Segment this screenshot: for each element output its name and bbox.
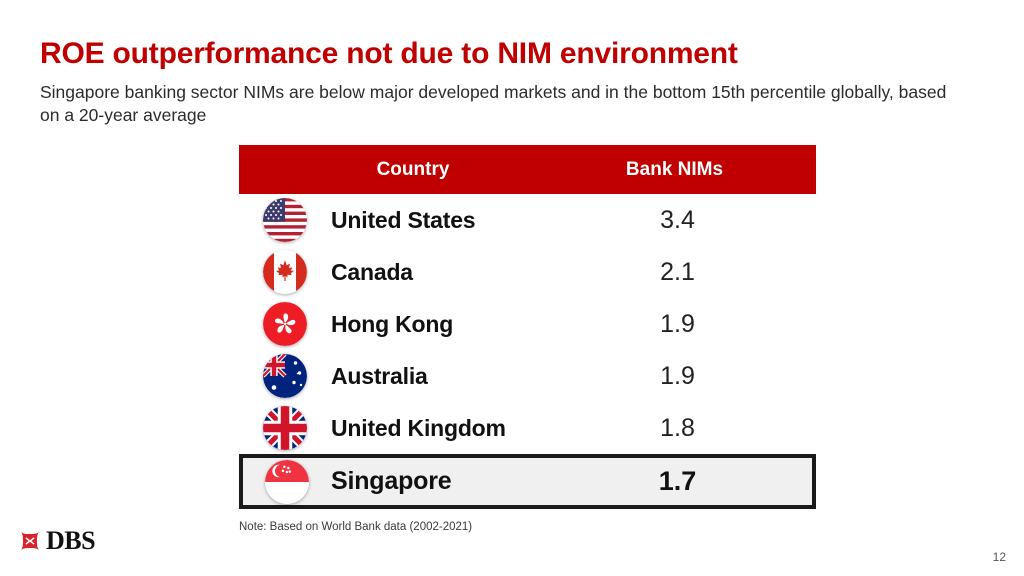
dbs-logo: DBS (18, 528, 95, 554)
nim-table: Country Bank NIMs (239, 145, 816, 509)
flag-hongkong-icon (263, 302, 307, 346)
table-row[interactable]: Canada2.1 (239, 246, 816, 298)
country-name-cell: Singapore (331, 467, 587, 496)
footnote: Note: Based on World Bank data (2002-202… (239, 521, 472, 533)
column-header-country: Country (239, 159, 569, 181)
table-row-highlighted[interactable]: Singapore1.7 (239, 454, 816, 509)
page-subtitle: Singapore banking sector NIMs are below … (40, 81, 970, 128)
flag-canada-icon (263, 250, 307, 294)
table-header-row: Country Bank NIMs (239, 145, 816, 194)
page-title: ROE outperformance not due to NIM enviro… (40, 38, 980, 70)
dbs-mark-icon (18, 529, 42, 553)
bank-nim-value-cell: 1.8 (587, 414, 816, 443)
bank-nim-value-cell: 3.4 (587, 206, 816, 235)
table-row[interactable]: United Kingdom1.8 (239, 402, 816, 454)
bank-nim-value-cell: 1.9 (587, 362, 816, 391)
flag-us-icon (263, 198, 307, 242)
country-flag-cell (239, 406, 331, 450)
country-flag-cell (239, 354, 331, 398)
flag-uk-icon (263, 406, 307, 450)
dbs-wordmark: DBS (46, 528, 95, 554)
country-flag-cell (243, 460, 331, 504)
flag-singapore-icon (265, 460, 309, 504)
table-row[interactable]: Hong Kong1.9 (239, 298, 816, 350)
country-flag-cell (239, 198, 331, 242)
country-flag-cell (239, 302, 331, 346)
table-row[interactable]: United States3.4 (239, 194, 816, 246)
bank-nim-value-cell: 1.9 (587, 310, 816, 339)
page-number: 12 (993, 550, 1006, 564)
country-name-cell: Canada (331, 259, 587, 286)
country-name-cell: United States (331, 207, 587, 234)
table-row[interactable]: Australia1.9 (239, 350, 816, 402)
slide: ROE outperformance not due to NIM enviro… (0, 0, 1024, 576)
country-name-cell: Hong Kong (331, 311, 587, 338)
country-flag-cell (239, 250, 331, 294)
table-body: United States3.4 Canada2.1 (239, 194, 816, 509)
bank-nim-value-cell: 1.7 (587, 466, 816, 497)
bank-nim-value-cell: 2.1 (587, 258, 816, 287)
flag-australia-icon (263, 354, 307, 398)
country-name-cell: United Kingdom (331, 415, 587, 442)
column-header-bank-nims: Bank NIMs (569, 159, 816, 181)
country-name-cell: Australia (331, 363, 587, 390)
